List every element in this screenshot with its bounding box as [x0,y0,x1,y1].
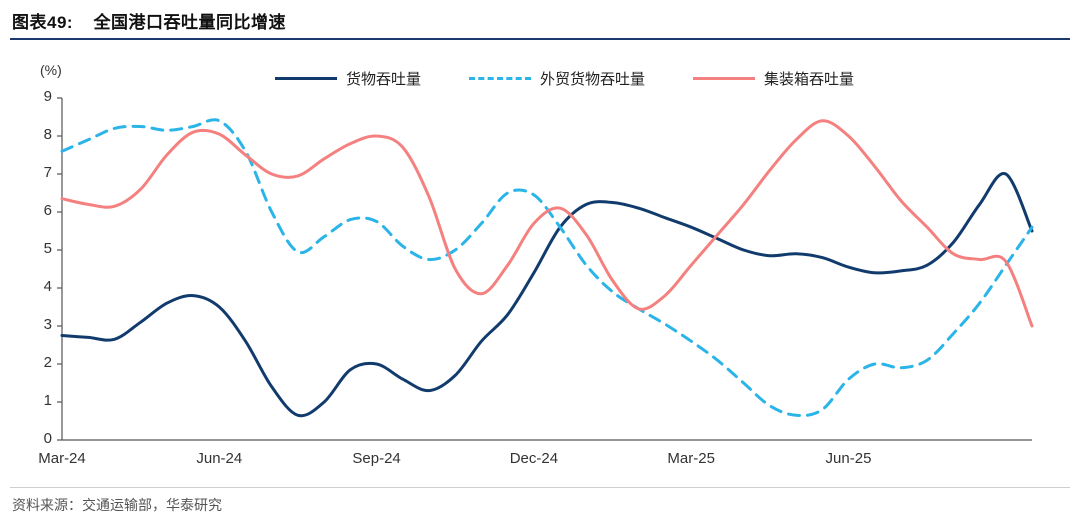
y-tick-label: 9 [30,88,52,105]
chart-plot [0,40,1080,480]
y-tick-label: 8 [30,126,52,143]
x-tick-label: Mar-24 [26,450,98,467]
x-tick-label: Jun-24 [183,450,255,467]
figure-number: 图表49: [12,13,73,32]
y-tick-label: 5 [30,240,52,257]
x-tick-label: Mar-25 [655,450,727,467]
series-line-1 [62,120,1032,416]
y-tick-label: 3 [30,316,52,333]
y-tick-label: 2 [30,354,52,371]
figure-caption: 图表49: 全国港口吞吐量同比增速 [12,8,286,33]
chart-header: 图表49: 全国港口吞吐量同比增速 [0,0,1080,40]
y-tick-label: 1 [30,392,52,409]
chart-page: 图表49: 全国港口吞吐量同比增速 (%) 货物吞吐量 外贸货物吞吐量 集装箱吞… [0,0,1080,525]
y-tick-marks [57,98,62,440]
y-tick-label: 0 [30,430,52,447]
x-tick-label: Dec-24 [498,450,570,467]
footer-divider [10,487,1070,488]
chart-body: (%) 货物吞吐量 外贸货物吞吐量 集装箱吞吐量 0123456789 Mar-… [0,40,1080,480]
y-tick-label: 4 [30,278,52,295]
source-note: 资料来源：交通运输部，华泰研究 [12,495,222,515]
series-layer [62,120,1032,416]
series-line-2 [62,121,1032,326]
figure-title: 全国港口吞吐量同比增速 [94,13,287,32]
y-tick-label: 7 [30,164,52,181]
x-tick-label: Sep-24 [341,450,413,467]
x-tick-label: Jun-25 [812,450,884,467]
y-tick-label: 6 [30,202,52,219]
